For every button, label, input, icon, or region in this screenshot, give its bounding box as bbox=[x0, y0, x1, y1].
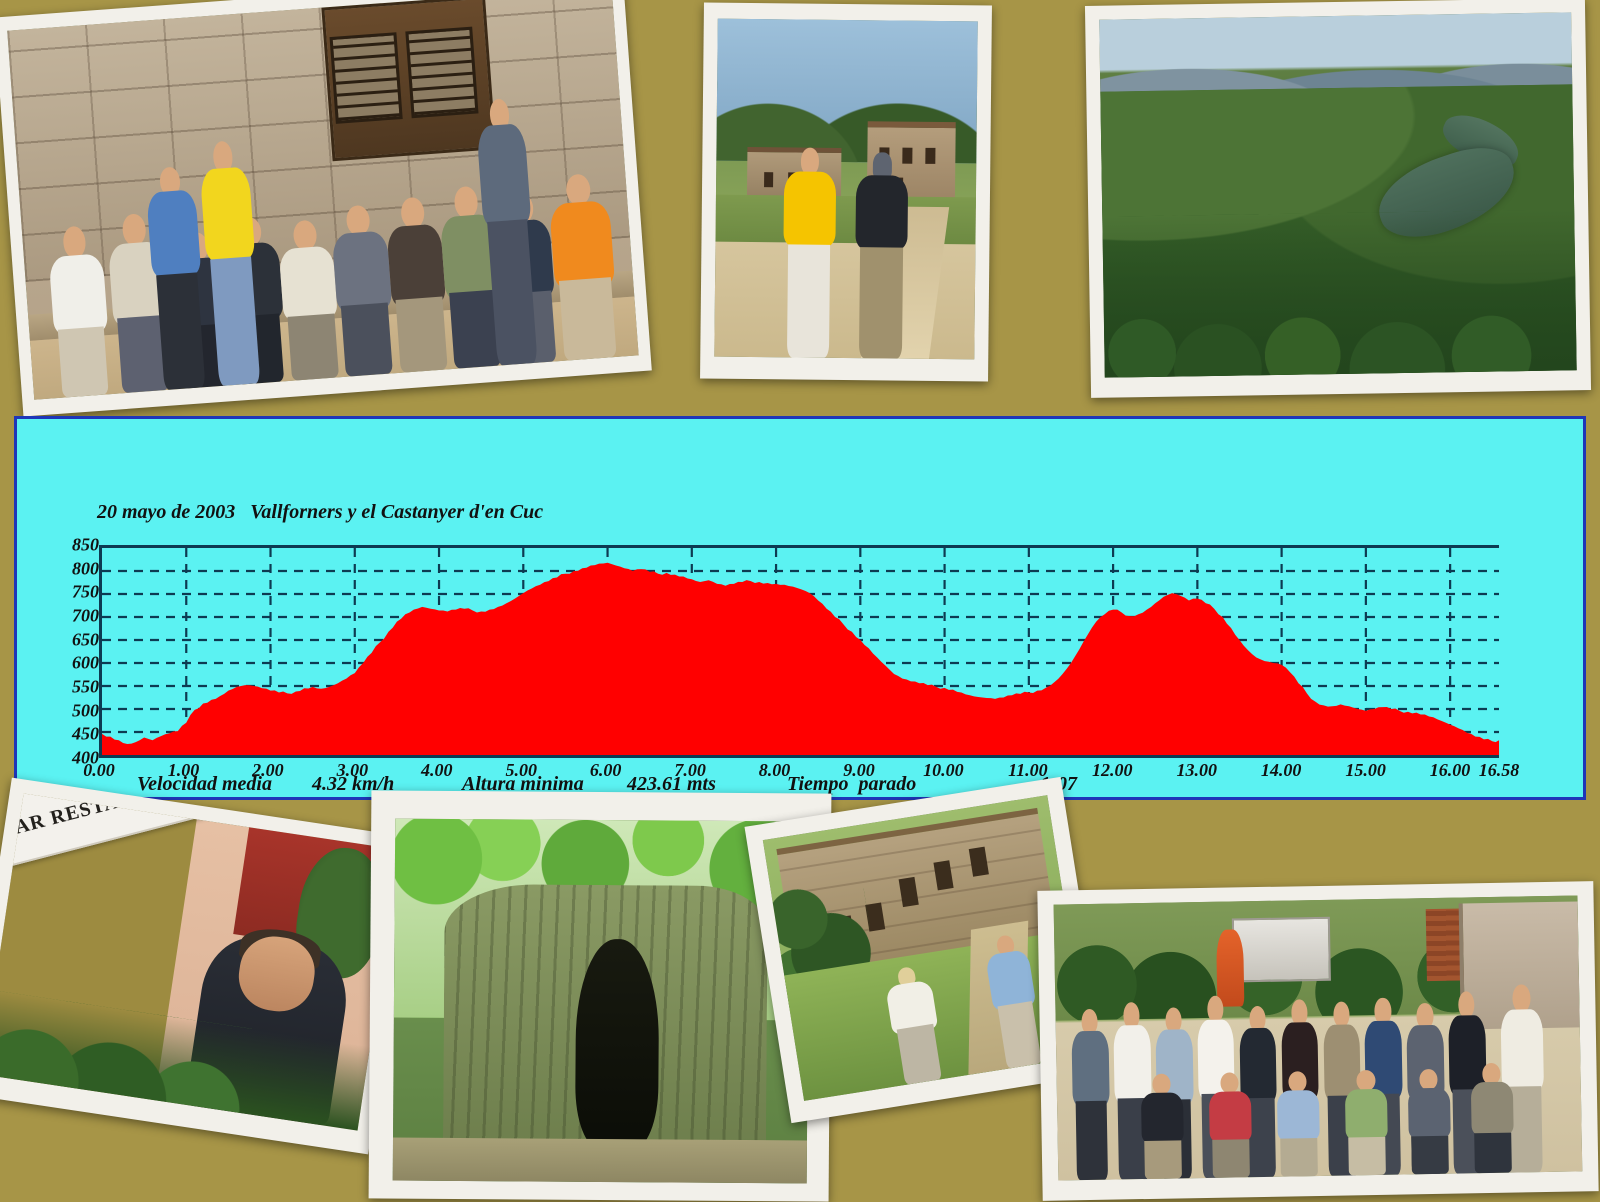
x-tick-1.00: 1.00 bbox=[168, 760, 200, 781]
x-tick-12.00: 12.00 bbox=[1092, 760, 1133, 781]
elevation-chart-panel: 20 mayo de 2003 Vallforners y el Castany… bbox=[14, 416, 1586, 800]
y-tick-750: 750 bbox=[72, 582, 99, 603]
y-tick-550: 550 bbox=[72, 676, 99, 697]
y-tick-700: 700 bbox=[72, 605, 99, 626]
photo-bar-restaurant: BAR RESTAURANT SANT MUÇ bbox=[0, 778, 415, 1155]
photo-scene bbox=[714, 19, 978, 360]
x-tick-8.00: 8.00 bbox=[759, 760, 791, 781]
y-tick-850: 850 bbox=[72, 535, 99, 556]
y-tick-600: 600 bbox=[72, 653, 99, 674]
x-tick-10.00: 10.00 bbox=[923, 760, 964, 781]
photo-scene: BAR RESTAURANT SANT MUÇ bbox=[0, 794, 399, 1131]
photo-scene bbox=[7, 0, 638, 400]
x-tick-14.00: 14.00 bbox=[1261, 760, 1302, 781]
elevation-area-svg bbox=[102, 548, 1499, 755]
x-tick-0.00: 0.00 bbox=[83, 760, 115, 781]
photo-group-stone-wall bbox=[0, 0, 652, 417]
x-tick-11.00: 11.00 bbox=[1008, 760, 1048, 781]
y-axis-tick-labels: 400450500550600650700750800850 bbox=[45, 545, 99, 758]
x-tick-15.00: 15.00 bbox=[1345, 760, 1386, 781]
photo-scene bbox=[393, 819, 810, 1184]
x-tick-13.00: 13.00 bbox=[1176, 760, 1217, 781]
x-tick-16.58: 16.58 bbox=[1479, 760, 1520, 781]
y-tick-450: 450 bbox=[72, 724, 99, 745]
photo-scene bbox=[1054, 895, 1583, 1180]
y-tick-800: 800 bbox=[72, 558, 99, 579]
x-tick-7.00: 7.00 bbox=[674, 760, 706, 781]
photo-reservoir-valley bbox=[1085, 0, 1591, 398]
x-tick-3.00: 3.00 bbox=[337, 760, 369, 781]
y-tick-500: 500 bbox=[72, 700, 99, 721]
x-tick-5.00: 5.00 bbox=[505, 760, 537, 781]
x-tick-9.00: 9.00 bbox=[843, 760, 875, 781]
collage-page: 20 mayo de 2003 Vallforners y el Castany… bbox=[0, 0, 1600, 1200]
x-tick-16.00: 16.00 bbox=[1430, 760, 1471, 781]
elevation-plot: 400450500550600650700750800850 0.001.002… bbox=[45, 545, 1499, 758]
photo-final-group bbox=[1037, 881, 1598, 1201]
x-tick-6.00: 6.00 bbox=[590, 760, 622, 781]
x-tick-2.00: 2.00 bbox=[252, 760, 284, 781]
y-tick-650: 650 bbox=[72, 629, 99, 650]
x-tick-4.00: 4.00 bbox=[421, 760, 453, 781]
photo-two-hikers-masia bbox=[700, 3, 992, 382]
x-axis-tick-labels: 0.001.002.003.004.005.006.007.008.009.00… bbox=[45, 758, 1499, 788]
track-title: 20 mayo de 2003 Vallforners y el Castany… bbox=[97, 497, 1077, 527]
plot-area bbox=[99, 545, 1499, 758]
photo-scene bbox=[1099, 12, 1577, 377]
